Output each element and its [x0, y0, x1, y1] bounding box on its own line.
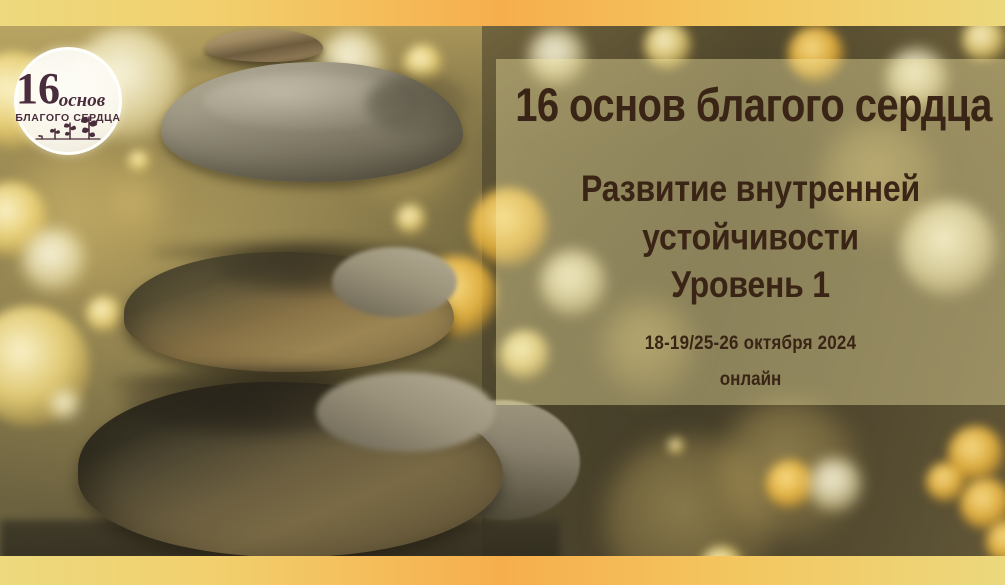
- stone-highlight: [316, 372, 495, 453]
- logo-word: основ: [59, 90, 106, 111]
- stone-top-small: [205, 29, 323, 62]
- frame-band-bottom: [0, 556, 1005, 585]
- brand-logo[interactable]: 16 основ БЛАГОГО СЕРДЦА: [14, 47, 122, 155]
- poster-subtitle: Развитие внутренней устойчивости Уровень…: [496, 165, 1005, 310]
- stone-third-tan: [124, 252, 454, 372]
- subtitle-line-2: устойчивости: [496, 213, 1005, 261]
- event-format: онлайн: [496, 368, 1005, 390]
- logo-artwork: 16 основ БЛАГОГО СЕРДЦА: [14, 47, 122, 155]
- page-title: 16 основ благого сердца: [502, 81, 1005, 131]
- frame-band-top: [0, 0, 1005, 26]
- logo-tagline: БЛАГОГО СЕРДЦА: [15, 112, 120, 124]
- logo-number: 16: [16, 64, 60, 113]
- subtitle-line-1: Развитие внутренней: [496, 165, 1005, 213]
- stone-highlight: [332, 247, 457, 317]
- subtitle-line-3: Уровень 1: [496, 261, 1005, 309]
- stone-shading: [366, 72, 469, 137]
- poster-text-block: 16 основ благого сердца Развитие внутрен…: [496, 59, 1005, 405]
- stone-bottom-large: [78, 382, 503, 557]
- event-poster: 16 основ благого сердца Развитие внутрен…: [0, 0, 1005, 585]
- event-date: 18-19/25-26 октября 2024: [496, 332, 1005, 354]
